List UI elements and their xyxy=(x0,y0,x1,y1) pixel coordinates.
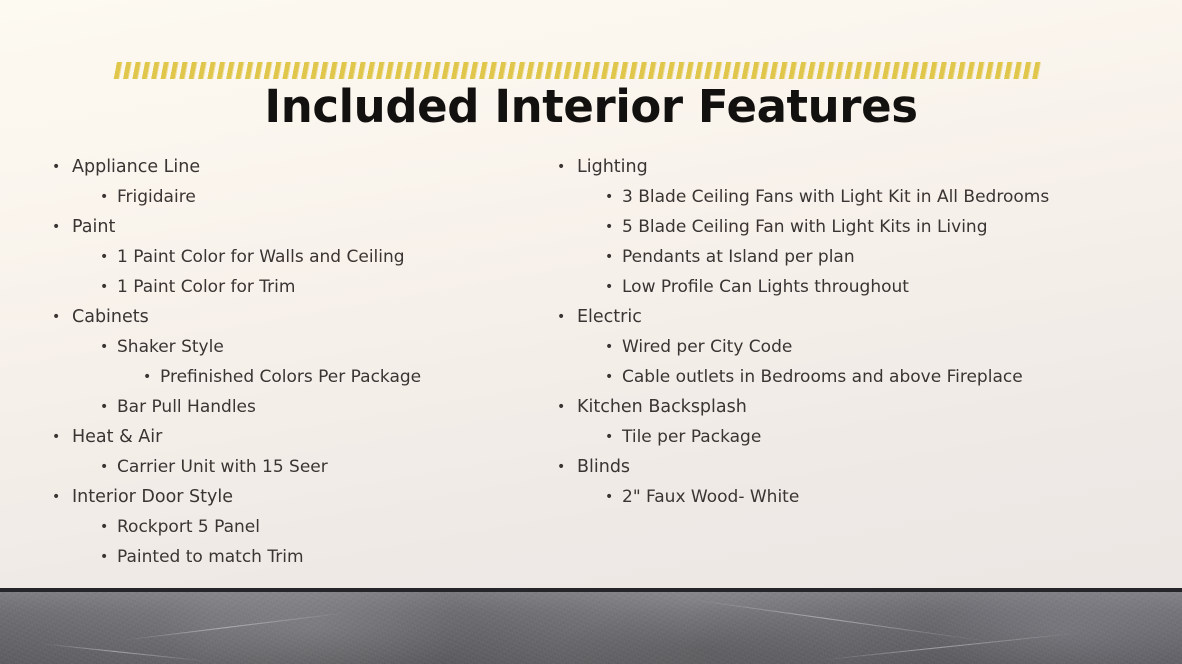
feature-bullet-level-1: •Electric xyxy=(549,302,1149,332)
features-column-right: •Lighting•3 Blade Ceiling Fans with Ligh… xyxy=(549,152,1149,512)
stripe-pattern xyxy=(113,62,1041,79)
stone-photo-band xyxy=(0,592,1182,664)
feature-bullet-label: Kitchen Backsplash xyxy=(577,392,747,422)
feature-bullet-label: Carrier Unit with 15 Seer xyxy=(117,452,328,482)
feature-bullet-label: Bar Pull Handles xyxy=(117,392,256,422)
stone-highlight-1 xyxy=(150,592,480,664)
feature-bullet-label: Rockport 5 Panel xyxy=(117,512,260,542)
bullet-dot-icon: • xyxy=(100,512,108,542)
bullet-dot-icon: • xyxy=(605,242,613,272)
feature-bullet-label: Painted to match Trim xyxy=(117,542,304,572)
feature-bullet-label: Tile per Package xyxy=(622,422,761,452)
feature-bullet-label: 3 Blade Ceiling Fans with Light Kit in A… xyxy=(622,182,1049,212)
bullet-dot-icon: • xyxy=(605,212,613,242)
feature-bullet-label: 5 Blade Ceiling Fan with Light Kits in L… xyxy=(622,212,988,242)
feature-bullet-level-2: •Cable outlets in Bedrooms and above Fir… xyxy=(549,362,1149,392)
bullet-dot-icon: • xyxy=(605,332,613,362)
feature-bullet-level-2: •Low Profile Can Lights throughout xyxy=(549,272,1149,302)
bullet-dot-icon: • xyxy=(52,482,60,512)
feature-bullet-label: Cable outlets in Bedrooms and above Fire… xyxy=(622,362,1023,392)
feature-bullet-label: 1 Paint Color for Walls and Ceiling xyxy=(117,242,405,272)
feature-bullet-level-2: •Tile per Package xyxy=(549,422,1149,452)
feature-bullet-level-1: •Heat & Air xyxy=(44,422,524,452)
feature-bullet-level-2: •3 Blade Ceiling Fans with Light Kit in … xyxy=(549,182,1149,212)
feature-bullet-level-1: •Blinds xyxy=(549,452,1149,482)
feature-bullet-label: Paint xyxy=(72,212,115,242)
feature-bullet-label: Pendants at Island per plan xyxy=(622,242,855,272)
bullet-dot-icon: • xyxy=(100,272,108,302)
feature-bullet-level-1: •Kitchen Backsplash xyxy=(549,392,1149,422)
stone-highlight-2 xyxy=(930,592,1182,664)
bullet-dot-icon: • xyxy=(52,212,60,242)
bullet-dot-icon: • xyxy=(100,452,108,482)
feature-bullet-level-2: •2" Faux Wood- White xyxy=(549,482,1149,512)
bullet-dot-icon: • xyxy=(557,302,565,332)
bullet-dot-icon: • xyxy=(557,392,565,422)
bullet-dot-icon: • xyxy=(605,422,613,452)
bullet-dot-icon: • xyxy=(605,272,613,302)
feature-bullet-label: Electric xyxy=(577,302,642,332)
bullet-dot-icon: • xyxy=(557,152,565,182)
feature-bullet-level-2: •Wired per City Code xyxy=(549,332,1149,362)
bullet-dot-icon: • xyxy=(143,362,151,392)
feature-bullet-level-1: •Cabinets xyxy=(44,302,524,332)
bullet-dot-icon: • xyxy=(605,482,613,512)
bullet-dot-icon: • xyxy=(52,422,60,452)
feature-bullet-level-2: •Rockport 5 Panel xyxy=(44,512,524,542)
bullet-dot-icon: • xyxy=(605,182,613,212)
bullet-dot-icon: • xyxy=(52,152,60,182)
feature-bullet-label: Lighting xyxy=(577,152,648,182)
feature-bullet-label: Frigidaire xyxy=(117,182,196,212)
feature-bullet-level-2: •Carrier Unit with 15 Seer xyxy=(44,452,524,482)
feature-bullet-level-2: •Bar Pull Handles xyxy=(44,392,524,422)
bullet-dot-icon: • xyxy=(100,542,108,572)
bullet-dot-icon: • xyxy=(52,302,60,332)
feature-bullet-level-2: •Pendants at Island per plan xyxy=(549,242,1149,272)
bullet-dot-icon: • xyxy=(100,182,108,212)
feature-bullet-label: Appliance Line xyxy=(72,152,200,182)
feature-bullet-level-3: •Prefinished Colors Per Package xyxy=(44,362,524,392)
bullet-dot-icon: • xyxy=(605,362,613,392)
feature-bullet-label: Cabinets xyxy=(72,302,149,332)
feature-bullet-label: 2" Faux Wood- White xyxy=(622,482,799,512)
feature-bullet-label: Wired per City Code xyxy=(622,332,792,362)
feature-bullet-label: Heat & Air xyxy=(72,422,162,452)
feature-bullet-level-2: •Shaker Style xyxy=(44,332,524,362)
bullet-dot-icon: • xyxy=(100,392,108,422)
feature-bullet-label: Prefinished Colors Per Package xyxy=(160,362,421,392)
feature-bullet-level-2: •1 Paint Color for Trim xyxy=(44,272,524,302)
feature-bullet-level-2: •Frigidaire xyxy=(44,182,524,212)
feature-bullet-label: Interior Door Style xyxy=(72,482,233,512)
bullet-dot-icon: • xyxy=(557,452,565,482)
feature-bullet-label: Shaker Style xyxy=(117,332,224,362)
feature-bullet-level-2: •Painted to match Trim xyxy=(44,542,524,572)
slide: Included Interior Features •Appliance Li… xyxy=(0,0,1182,664)
page-title: Included Interior Features xyxy=(0,82,1182,132)
bullet-dot-icon: • xyxy=(100,242,108,272)
feature-bullet-level-1: •Interior Door Style xyxy=(44,482,524,512)
feature-bullet-label: 1 Paint Color for Trim xyxy=(117,272,295,302)
features-column-left: •Appliance Line•Frigidaire•Paint•1 Paint… xyxy=(44,152,524,572)
bullet-dot-icon: • xyxy=(100,332,108,362)
feature-bullet-label: Low Profile Can Lights throughout xyxy=(622,272,909,302)
feature-bullet-level-2: •5 Blade Ceiling Fan with Light Kits in … xyxy=(549,212,1149,242)
feature-bullet-level-2: •1 Paint Color for Walls and Ceiling xyxy=(44,242,524,272)
decorative-stripe-rule xyxy=(113,62,1041,79)
feature-bullet-label: Blinds xyxy=(577,452,630,482)
feature-bullet-level-1: •Appliance Line xyxy=(44,152,524,182)
feature-bullet-level-1: •Lighting xyxy=(549,152,1149,182)
feature-bullet-level-1: •Paint xyxy=(44,212,524,242)
